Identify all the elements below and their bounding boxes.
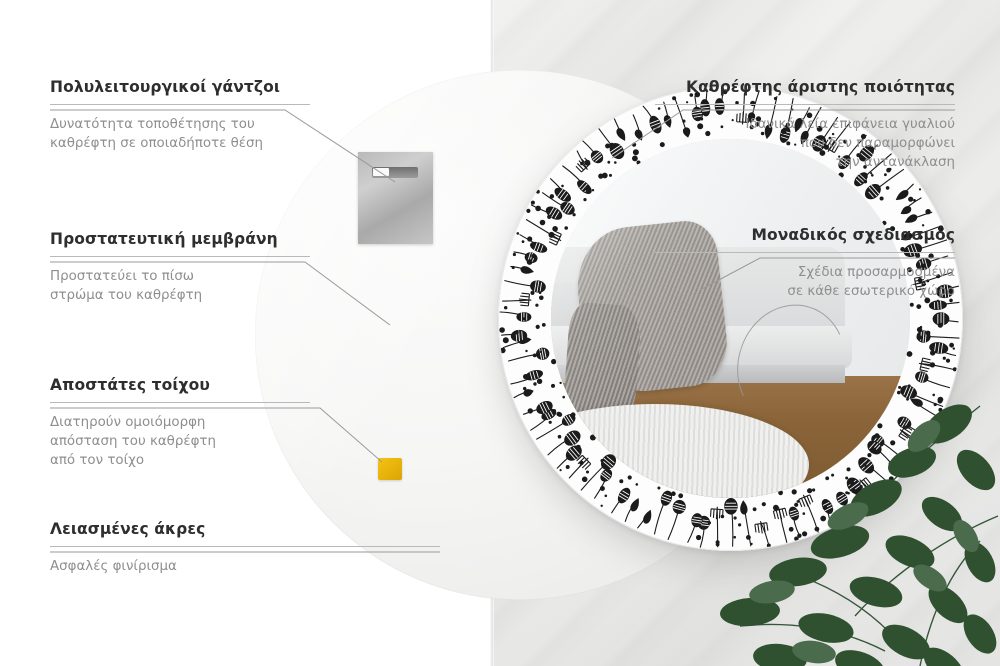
callout-desc-line: Προστατεύει το πίσω	[50, 267, 310, 286]
callout-wall-spacers: Αποστάτες τοίχου Διατηρούν ομοιόμορφη απ…	[50, 376, 310, 470]
callout-desc-line: Δυνατότητα τοποθέτησης του	[50, 115, 310, 134]
callout-multifunctional-hooks: Πολυλειτουργικοί γάντζοι Δυνατότητα τοπο…	[50, 78, 310, 153]
callout-title: Καθρέφτης άριστης ποιότητας	[655, 78, 955, 96]
callout-desc-line: Ιδανικά λεία επιφάνεια γυαλιού	[655, 115, 955, 134]
callout-desc-line: απόσταση του καθρέφτη	[50, 432, 310, 451]
callout-rule	[50, 256, 310, 257]
callout-desc-line: Ασφαλές φινίρισμα	[50, 557, 440, 576]
infographic-canvas: Πολυλειτουργικοί γάντζοι Δυνατότητα τοπο…	[0, 0, 1000, 666]
callout-desc-line: Σχέδια προσαρμοσμένα	[655, 263, 955, 282]
callout-desc: Διατηρούν ομοιόμορφη απόσταση του καθρέφ…	[50, 413, 310, 470]
callout-desc: Ιδανικά λεία επιφάνεια γυαλιού που δεν π…	[655, 115, 955, 172]
mounting-hook-plate	[358, 152, 433, 244]
callout-smoothed-edges: Λειασμένες άκρες Ασφαλές φινίρισμα	[50, 520, 440, 576]
callout-desc-line: που δεν παραμορφώνει	[655, 134, 955, 153]
callout-title: Προστατευτική μεμβράνη	[50, 230, 310, 248]
callout-title: Πολυλειτουργικοί γάντζοι	[50, 78, 310, 96]
hook-icon	[372, 167, 418, 178]
callout-protective-membrane: Προστατευτική μεμβράνη Προστατεύει το πί…	[50, 230, 310, 305]
callout-title: Μοναδικός σχεδιασμός	[655, 226, 955, 244]
foliage-branch-icon	[680, 366, 1000, 666]
callout-desc: Προστατεύει το πίσω στρώμα του καθρέφτη	[50, 267, 310, 305]
callout-rule	[655, 252, 955, 253]
callout-unique-design: Μοναδικός σχεδιασμός Σχέδια προσαρμοσμέν…	[655, 226, 955, 301]
callout-title: Λειασμένες άκρες	[50, 520, 440, 538]
callout-title: Αποστάτες τοίχου	[50, 376, 310, 394]
callout-desc: Σχέδια προσαρμοσμένα σε κάθε εσωτερικό χ…	[655, 263, 955, 301]
callout-top-quality-mirror: Καθρέφτης άριστης ποιότητας Ιδανικά λεία…	[655, 78, 955, 172]
callout-desc-line: Διατηρούν ομοιόμορφη	[50, 413, 310, 432]
callout-desc-line: σε κάθε εσωτερικό χώρο	[655, 282, 955, 301]
wall-spacer-element	[378, 458, 402, 480]
callout-desc-line: από τον τοίχο	[50, 451, 310, 470]
callout-desc-line: καθρέφτη σε οποιαδήποτε θέση	[50, 134, 310, 153]
callout-desc-line: την αντανάκλαση	[655, 153, 955, 172]
callout-desc-line: στρώμα του καθρέφτη	[50, 286, 310, 305]
callout-desc: Δυνατότητα τοποθέτησης του καθρέφτη σε ο…	[50, 115, 310, 153]
callout-rule	[50, 402, 310, 403]
callout-rule	[50, 546, 440, 547]
callout-desc: Ασφαλές φινίρισμα	[50, 557, 440, 576]
callout-rule	[655, 104, 955, 105]
callout-rule	[50, 104, 310, 105]
